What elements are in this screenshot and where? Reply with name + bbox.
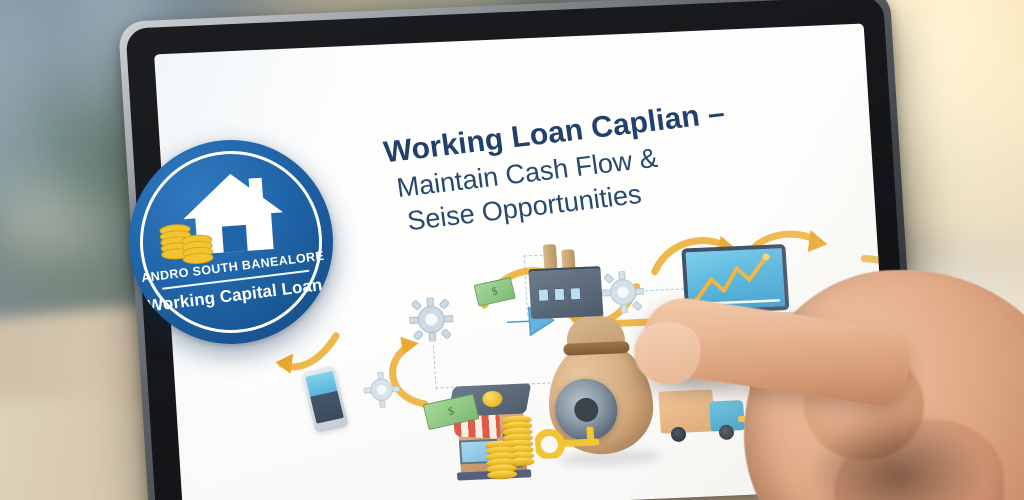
coin-stack-icon <box>484 414 558 487</box>
gear-icon <box>362 371 400 408</box>
banknote-gear-icon <box>414 387 486 430</box>
factory-icon <box>527 242 612 325</box>
pointing-hand <box>614 200 1024 500</box>
mobile-banking-icon <box>306 367 348 435</box>
scene-root: Working Loan Caplian – Maintain Cash Flo… <box>0 0 1024 500</box>
gear-icon <box>408 297 455 343</box>
